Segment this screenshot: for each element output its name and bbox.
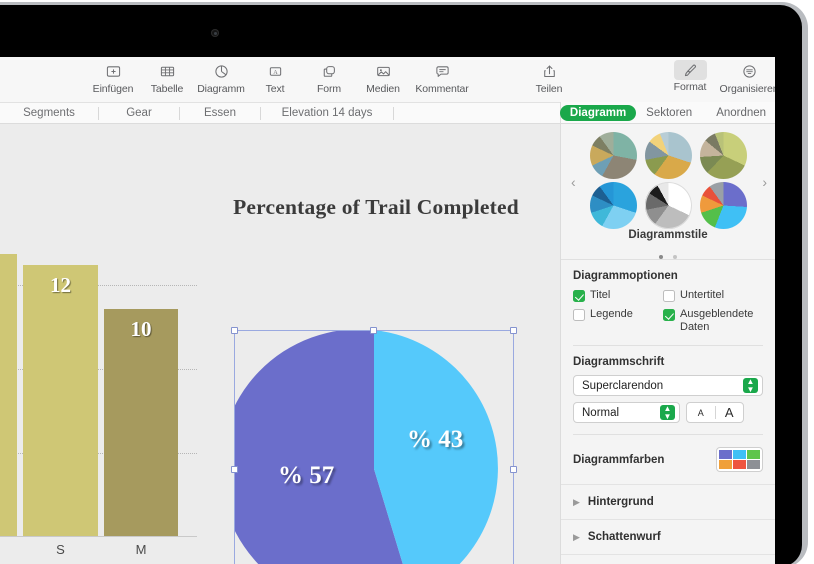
chart-style-thumb-6[interactable] bbox=[700, 182, 747, 229]
bar-item[interactable]: 10 bbox=[104, 309, 178, 537]
checkbox-legend[interactable] bbox=[573, 309, 585, 321]
checkbox-title[interactable] bbox=[573, 290, 585, 302]
insert-icon bbox=[106, 60, 121, 82]
swatch-gray bbox=[747, 460, 760, 469]
section-background[interactable]: ▶ Hintergrund bbox=[561, 484, 775, 520]
bar-chart-plot: 12 10 bbox=[0, 244, 197, 537]
text-icon: A bbox=[268, 60, 283, 82]
toolbar-label-text: Text bbox=[266, 83, 285, 95]
inspector-tab-chart[interactable]: Diagramm bbox=[560, 105, 636, 121]
chart-options-title: Diagrammoptionen bbox=[573, 270, 763, 282]
pager-dot-2[interactable] bbox=[673, 255, 677, 259]
swatch-cyan bbox=[733, 450, 746, 459]
bar-chart-axis bbox=[0, 536, 197, 537]
toolbar-left-group: Einfügen Tabelle Diagramm A bbox=[86, 60, 474, 95]
checkbox-row-subtitle[interactable]: Untertitel bbox=[663, 289, 763, 302]
increase-font-size-button[interactable]: A bbox=[716, 405, 744, 420]
section-shadow[interactable]: ▶ Schattenwurf bbox=[561, 520, 775, 555]
chart-colors-swatch-button[interactable] bbox=[716, 447, 763, 472]
toolbar-button-insert[interactable]: Einfügen bbox=[86, 60, 140, 95]
checkbox-label-subtitle: Untertitel bbox=[680, 289, 724, 302]
font-style-value: Normal bbox=[582, 407, 619, 419]
swatch-orange bbox=[719, 460, 732, 469]
pie-chart-block[interactable]: Percentage of Trail Completed % 57 % 43 bbox=[234, 194, 516, 564]
doc-tab-essen[interactable]: Essen bbox=[180, 107, 260, 119]
bar-item[interactable]: 12 bbox=[23, 265, 98, 537]
resize-handle-top-right[interactable] bbox=[510, 327, 517, 334]
toolbar-label-table: Tabelle bbox=[151, 83, 184, 95]
toolbar-right-group: Format Organisieren bbox=[663, 60, 775, 95]
selection-bounding-box bbox=[234, 330, 514, 564]
bar-chart[interactable]: 12 10 S M bbox=[0, 244, 197, 564]
checkbox-label-legend: Legende bbox=[590, 308, 633, 321]
chart-style-thumb-5[interactable] bbox=[645, 182, 692, 229]
doc-tab-segments[interactable]: Segments bbox=[0, 107, 98, 119]
share-icon bbox=[542, 60, 557, 82]
resize-handle-top-center[interactable] bbox=[370, 327, 377, 334]
chart-icon bbox=[214, 60, 229, 82]
decrease-font-size-button[interactable]: A bbox=[687, 408, 715, 418]
table-icon bbox=[160, 60, 175, 82]
toolbar-button-share[interactable]: Teilen bbox=[522, 60, 576, 95]
chart-style-thumbnails bbox=[586, 130, 751, 230]
chart-style-thumb-3[interactable] bbox=[700, 132, 747, 179]
format-brush-icon bbox=[674, 60, 707, 80]
bar-item[interactable] bbox=[0, 254, 17, 537]
collapsible-sections: ▶ Hintergrund ▶ Schattenwurf bbox=[561, 484, 775, 555]
toolbar-button-organize[interactable]: Organisieren bbox=[717, 60, 775, 95]
chart-style-thumb-4[interactable] bbox=[590, 182, 637, 229]
toolbar-label-shape: Form bbox=[317, 83, 341, 95]
checkbox-row-hidden-data[interactable]: Ausgeblendete Daten bbox=[663, 308, 763, 334]
font-style-select[interactable]: Normal ▲▼ bbox=[573, 402, 680, 423]
chart-font-title: Diagrammschrift bbox=[573, 356, 763, 368]
comment-icon bbox=[435, 60, 450, 82]
chevron-right-icon[interactable]: › bbox=[762, 174, 767, 190]
checkbox-row-title[interactable]: Titel bbox=[573, 289, 663, 302]
toolbar-label-organize: Organisieren bbox=[720, 83, 775, 95]
chart-styles-area: ‹ › Diagrammstile bbox=[561, 124, 775, 260]
inspector-tab-arrange[interactable]: Anordnen bbox=[706, 105, 775, 121]
toolbar-button-media[interactable]: Medien bbox=[356, 60, 410, 95]
bar-value-label: 12 bbox=[23, 273, 98, 298]
organize-icon bbox=[742, 60, 757, 82]
resize-handle-top-left[interactable] bbox=[231, 327, 238, 334]
swatch-red bbox=[733, 460, 746, 469]
pager-dot-1[interactable] bbox=[659, 255, 663, 259]
pie-chart-title: Percentage of Trail Completed bbox=[228, 194, 524, 220]
tab-divider bbox=[393, 107, 394, 120]
chevron-updown-icon[interactable]: ▲▼ bbox=[743, 378, 758, 393]
chevron-right-icon: ▶ bbox=[573, 497, 580, 508]
toolbar-button-table[interactable]: Tabelle bbox=[140, 60, 194, 95]
chart-colors-row: Diagrammfarben bbox=[573, 447, 763, 472]
checkbox-label-title: Titel bbox=[590, 289, 610, 302]
format-inspector-sidebar: Diagramm Sektoren Anordnen ‹ › Diagramms… bbox=[560, 102, 775, 564]
inspector-segmented-control: Diagramm Sektoren Anordnen bbox=[561, 102, 775, 124]
checkbox-hidden-data[interactable] bbox=[663, 309, 675, 321]
toolbar-button-chart[interactable]: Diagramm bbox=[194, 60, 248, 95]
chevron-right-icon: ▶ bbox=[573, 532, 580, 543]
checkbox-subtitle[interactable] bbox=[663, 290, 675, 302]
toolbar-button-comment[interactable]: Kommentar bbox=[410, 60, 474, 95]
toolbar-label-insert: Einfügen bbox=[93, 83, 134, 95]
font-family-value: Superclarendon bbox=[582, 380, 663, 392]
checkbox-label-hidden-data: Ausgeblendete Daten bbox=[680, 308, 758, 334]
screenshot-root: Einfügen Tabelle Diagramm A bbox=[0, 0, 814, 564]
chart-options-grid: Titel Untertitel Legende Ausgeblendete D… bbox=[573, 289, 763, 334]
bar-value-label: 10 bbox=[104, 317, 178, 342]
app-toolbar: Einfügen Tabelle Diagramm A bbox=[0, 57, 775, 102]
font-size-buttons: A A bbox=[686, 402, 744, 423]
document-canvas[interactable]: 12 10 S M Percentage of Trail Completed bbox=[0, 125, 560, 564]
chart-style-thumb-1[interactable] bbox=[590, 132, 637, 179]
doc-tab-elevation[interactable]: Elevation 14 days bbox=[261, 107, 393, 119]
webcam-icon bbox=[211, 29, 219, 37]
font-family-select[interactable]: Superclarendon ▲▼ bbox=[573, 375, 763, 396]
chevron-updown-icon[interactable]: ▲▼ bbox=[660, 405, 675, 420]
toolbar-button-format[interactable]: Format bbox=[663, 60, 717, 95]
resize-handle-middle-right[interactable] bbox=[510, 466, 517, 473]
swatch-purple bbox=[719, 450, 732, 459]
toolbar-label-media: Medien bbox=[366, 83, 400, 95]
toolbar-share-group: Teilen bbox=[522, 60, 576, 95]
media-icon bbox=[376, 60, 391, 82]
section-label-shadow: Schattenwurf bbox=[588, 531, 661, 543]
svg-text:A: A bbox=[273, 68, 278, 75]
shape-icon bbox=[322, 60, 337, 82]
toolbar-label-comment: Kommentar bbox=[415, 83, 468, 95]
chart-styles-caption: Diagrammstile bbox=[561, 229, 775, 241]
chart-colors-section: Diagrammfarben bbox=[561, 435, 775, 472]
chevron-left-icon[interactable]: ‹ bbox=[571, 174, 576, 190]
section-label-background: Hintergrund bbox=[588, 496, 654, 508]
resize-handle-middle-left[interactable] bbox=[231, 466, 238, 473]
chart-styles-pager bbox=[561, 246, 775, 264]
inspector-tab-wedges[interactable]: Sektoren bbox=[636, 105, 702, 121]
toolbar-button-shape[interactable]: Form bbox=[302, 60, 356, 95]
toolbar-label-format: Format bbox=[674, 81, 707, 93]
bar-category-label: M bbox=[104, 542, 178, 557]
toolbar-label-share: Teilen bbox=[536, 83, 563, 95]
chart-font-section: Diagrammschrift Superclarendon ▲▼ Normal… bbox=[561, 346, 775, 423]
swatch-green bbox=[747, 450, 760, 459]
toolbar-button-text[interactable]: A Text bbox=[248, 60, 302, 95]
chart-style-thumb-2[interactable] bbox=[645, 132, 692, 179]
font-style-row: Normal ▲▼ A A bbox=[573, 402, 763, 423]
chart-colors-label: Diagrammfarben bbox=[573, 454, 664, 466]
chart-options-section: Diagrammoptionen Titel Untertitel Legend… bbox=[561, 260, 775, 334]
doc-tab-gear[interactable]: Gear bbox=[99, 107, 179, 119]
bar-category-label: S bbox=[23, 542, 98, 557]
toolbar-label-chart: Diagramm bbox=[197, 83, 245, 95]
app-screen: Einfügen Tabelle Diagramm A bbox=[0, 57, 775, 564]
checkbox-row-legend[interactable]: Legende bbox=[573, 308, 663, 334]
